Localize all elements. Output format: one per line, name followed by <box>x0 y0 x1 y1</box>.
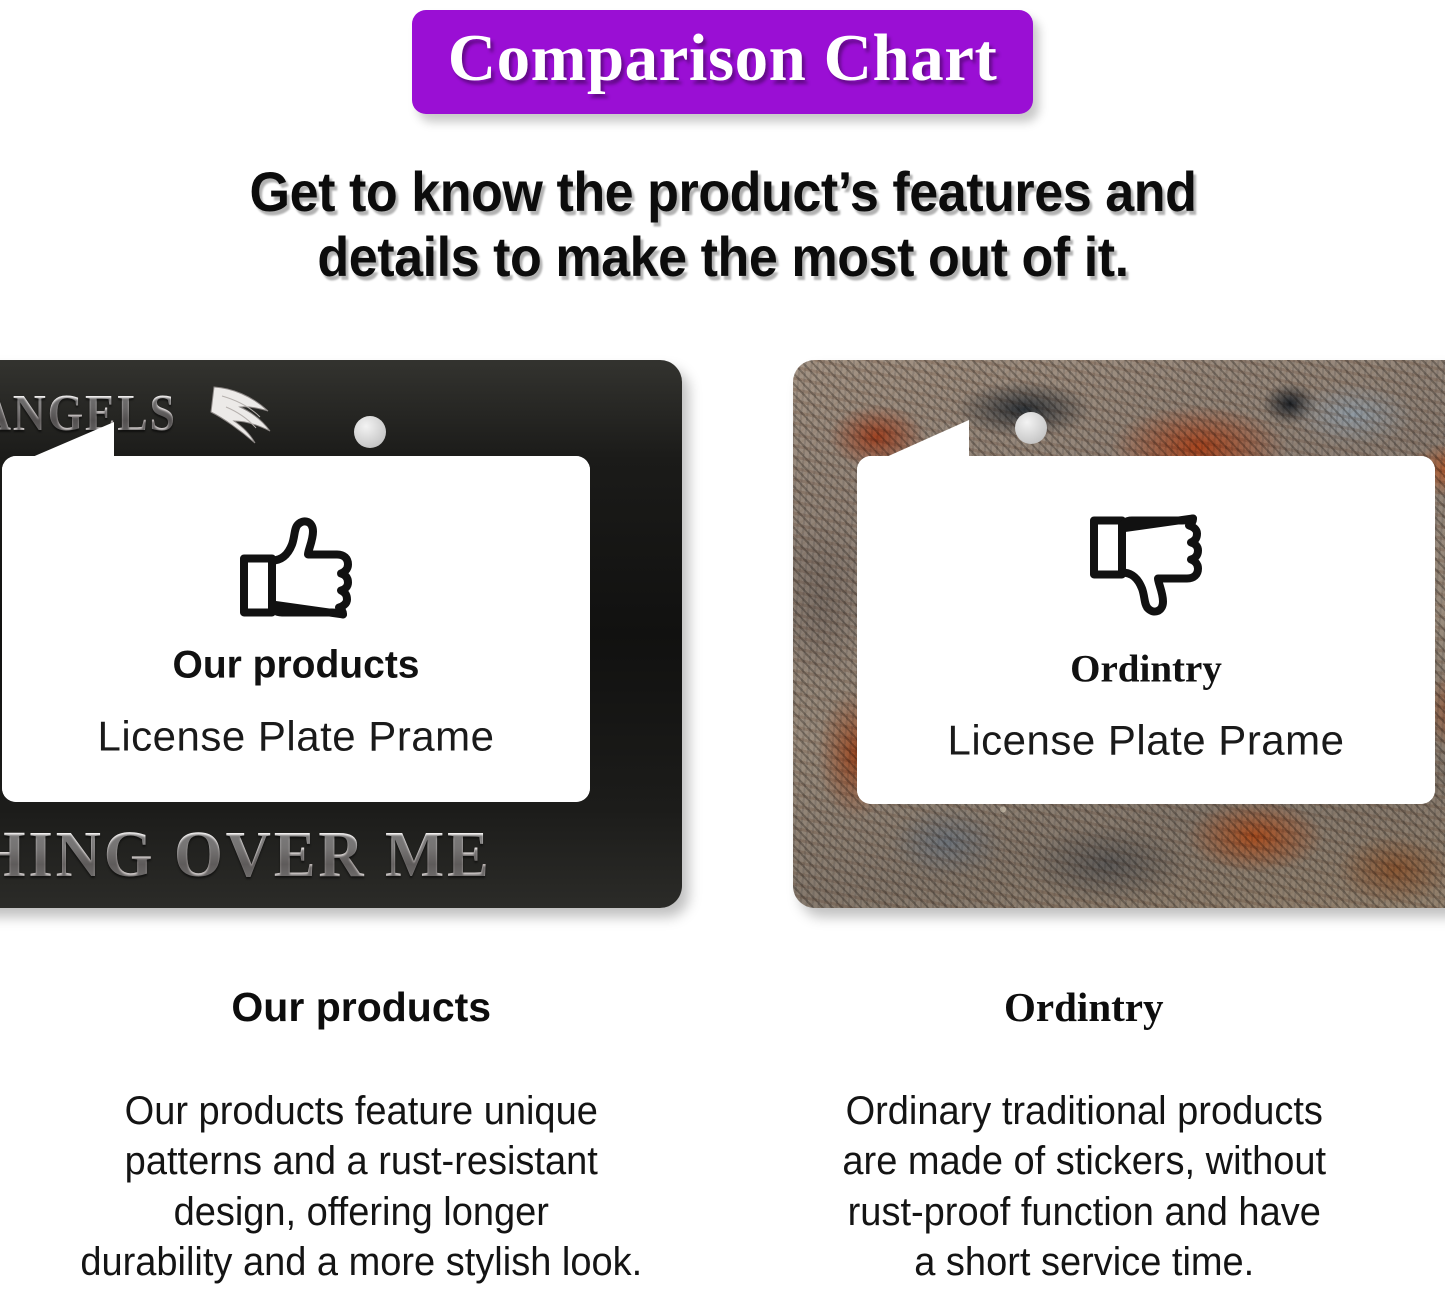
description-heading: Ordintry <box>747 985 1422 1030</box>
title-banner: Comparison Chart <box>412 10 1034 114</box>
description-line: design, offering longer <box>41 1187 682 1237</box>
description-line: durability and a more stylish look. <box>41 1237 682 1287</box>
frame-window: Ordintry License Plate Prame <box>857 456 1435 804</box>
mounting-hole <box>354 416 386 448</box>
description-line: Our products feature unique <box>41 1086 682 1136</box>
ordinary-product-frame: Ordintry License Plate Prame <box>793 360 1445 908</box>
our-product-description-column: Our products Our products feature unique… <box>0 985 723 1315</box>
description-body: Our products feature unique patterns and… <box>24 1086 699 1288</box>
frame-brand-bottom-word: TCHING OVER ME <box>0 822 492 888</box>
subtitle-line-1: Get to know the product’s features and <box>169 160 1276 225</box>
frame-brand-top: ANGELS <box>0 380 344 448</box>
frame-brand-bottom: TCHING OVER ME <box>0 816 584 894</box>
frame-body-rusted: Ordintry License Plate Prame <box>793 360 1445 908</box>
description-line: are made of stickers, without <box>763 1136 1404 1186</box>
product-name: Ordintry <box>857 648 1435 691</box>
angel-wing-right-icon <box>210 383 278 445</box>
frame-window: Our products License Plate Prame <box>2 456 590 802</box>
description-line: Ordinary traditional products <box>763 1086 1404 1136</box>
description-row: Our products Our products feature unique… <box>0 985 1445 1315</box>
thumbs-up-icon <box>238 514 354 618</box>
thumbs-down-icon <box>1088 512 1204 622</box>
ordinary-product-description-column: Ordintry Ordinary traditional products a… <box>723 985 1445 1315</box>
product-name: Our products <box>2 644 590 687</box>
frame-body-black: ANGELS <box>0 360 682 908</box>
page-title: Comparison Chart <box>448 18 998 100</box>
product-comparison-frames: ANGELS <box>0 360 1445 920</box>
subtitle-line-2: details to make the most out of it. <box>169 225 1276 290</box>
description-body: Ordinary traditional products are made o… <box>747 1086 1422 1288</box>
description-heading: Our products <box>24 985 699 1030</box>
frame-brand-word: ANGELS <box>0 388 177 440</box>
description-line: patterns and a rust-resistant <box>41 1136 682 1186</box>
frame-window-content: Our products License Plate Prame <box>2 498 590 759</box>
mounting-hole <box>1015 412 1047 444</box>
product-type: License Plate Prame <box>857 717 1435 763</box>
description-line: a short service time. <box>763 1237 1404 1287</box>
subtitle: Get to know the product’s features and d… <box>128 160 1318 290</box>
title-banner-container: Comparison Chart <box>0 10 1445 114</box>
frame-window-content: Ordintry License Plate Prame <box>857 496 1435 763</box>
product-type: License Plate Prame <box>2 713 590 759</box>
our-product-frame: ANGELS <box>0 360 682 908</box>
description-line: rust-proof function and have <box>763 1187 1404 1237</box>
